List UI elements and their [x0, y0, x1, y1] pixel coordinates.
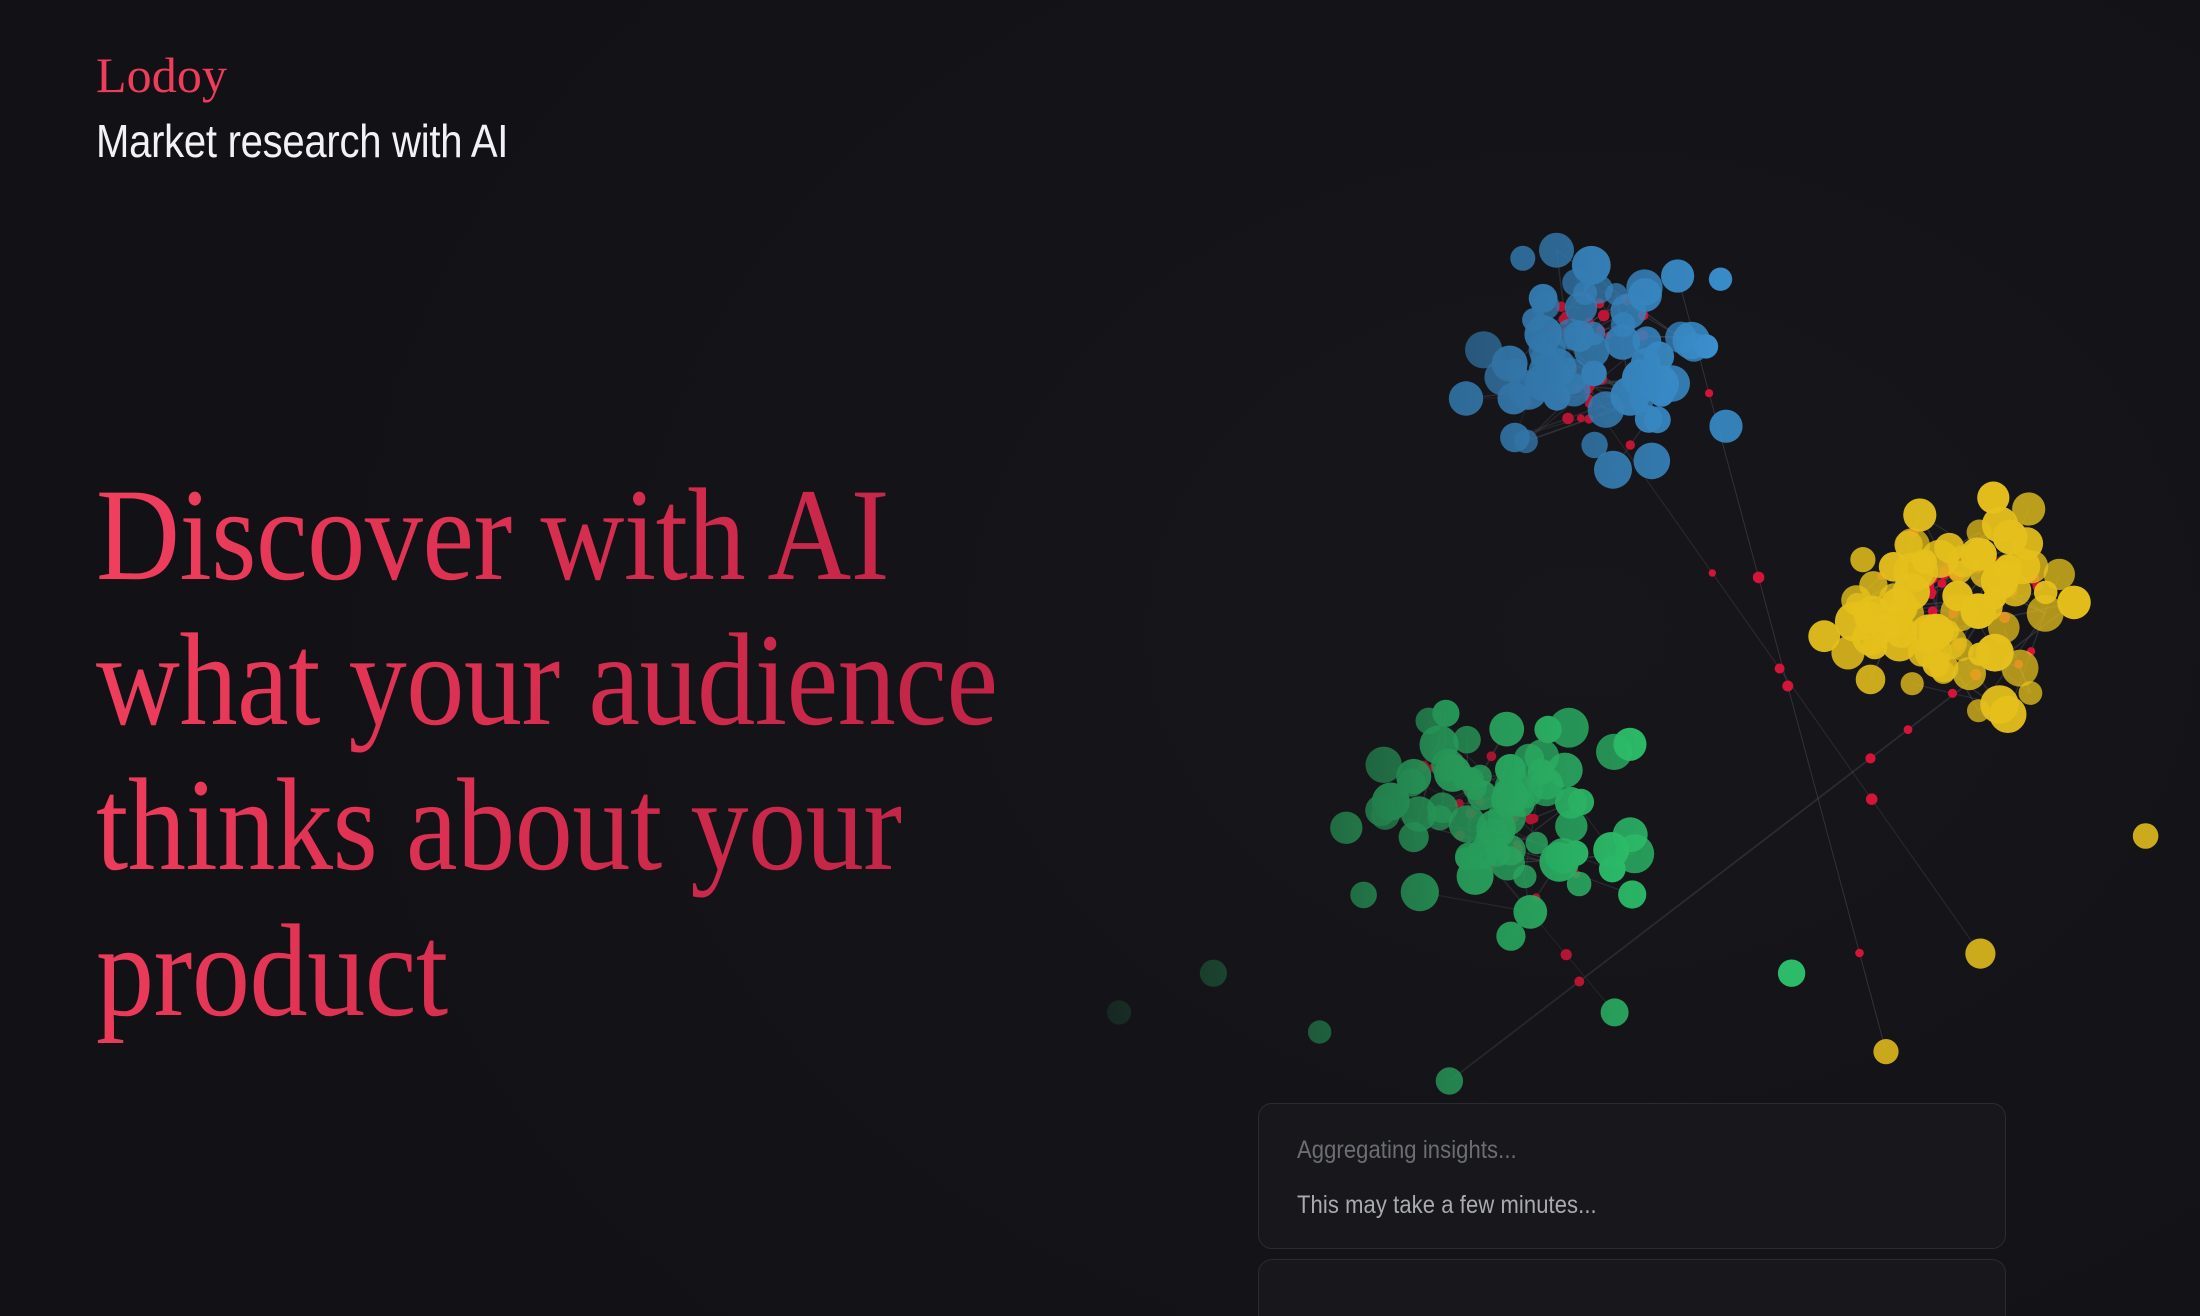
- graph-edge: [1623, 288, 1645, 343]
- graph-edge-marker: [1546, 341, 1554, 349]
- page-root: Lodoy Market research with AI Discover w…: [0, 0, 2200, 1316]
- graph-node: [1709, 268, 1732, 291]
- graph-edge: [1857, 532, 1979, 604]
- graph-edge: [2022, 566, 2045, 592]
- graph-edge-marker: [1990, 557, 1999, 566]
- graph-node: [1594, 451, 1632, 489]
- graph-node: [1572, 246, 1611, 285]
- graph-edge-marker: [1928, 606, 1938, 616]
- graph-node: [1588, 391, 1625, 428]
- status-panel-stack: Aggregating insights... This may take a …: [1258, 1103, 2006, 1316]
- graph-edge: [1556, 374, 1606, 410]
- graph-edge-marker: [2014, 660, 2023, 669]
- graph-node: [1555, 787, 1587, 819]
- graph-node: [1852, 619, 1888, 655]
- graph-edge-marker: [1934, 663, 1944, 673]
- graph-edge-marker: [1709, 569, 1716, 576]
- graph-node: [1434, 755, 1471, 792]
- graph-edge: [1870, 607, 1989, 615]
- graph-edge: [1579, 311, 1628, 336]
- graph-edge: [1493, 803, 1571, 835]
- graph-node: [1629, 388, 1653, 412]
- graph-node: [1330, 812, 1362, 844]
- graph-edge-marker: [1782, 681, 1793, 692]
- graph-edge-marker: [1865, 753, 1875, 763]
- graph-node: [1859, 571, 1887, 599]
- graph-edge-marker: [1879, 617, 1889, 627]
- graph-edge: [1469, 730, 1548, 857]
- graph-edge: [1678, 276, 1886, 1052]
- graph-edge: [1856, 546, 1912, 601]
- graph-node: [1573, 281, 1597, 305]
- graph-node: [1200, 960, 1227, 987]
- graph-node: [1555, 319, 1586, 350]
- graph-node: [1492, 777, 1528, 813]
- graph-node: [1581, 361, 1607, 387]
- graph-edge: [1599, 289, 1681, 337]
- graph-node: [1524, 315, 1562, 353]
- status-line-duration: This may take a few minutes...: [1297, 1193, 1887, 1218]
- graph-edge-marker: [1954, 639, 1965, 650]
- graph-node: [1622, 359, 1660, 397]
- graph-edge: [1936, 631, 1961, 649]
- graph-node: [1850, 547, 1875, 572]
- graph-edge: [1936, 664, 1944, 672]
- graph-edge: [1557, 250, 1694, 347]
- graph-edge-marker: [1594, 298, 1604, 308]
- graph-edge-marker: [1525, 814, 1536, 825]
- graph-edge-marker: [1553, 391, 1564, 402]
- graph-edge: [1467, 730, 1548, 825]
- graph-edge-marker: [1993, 585, 2003, 595]
- graph-node: [1492, 346, 1528, 382]
- graph-node: [1500, 423, 1530, 453]
- graph-node: [1562, 269, 1590, 297]
- graph-edge: [1529, 759, 1565, 770]
- graph-edge-marker: [1939, 566, 1949, 576]
- graph-edge-marker: [1584, 385, 1594, 395]
- graph-edge-marker: [1559, 314, 1570, 325]
- graph-node: [1427, 792, 1458, 823]
- graph-edge-marker: [1905, 603, 1916, 614]
- graph-node: [1914, 633, 1951, 670]
- graph-edge-marker: [1903, 639, 1913, 649]
- graph-node: [1984, 560, 2018, 594]
- graph-node: [1933, 626, 1967, 660]
- graph-node: [1488, 798, 1526, 836]
- graph-node: [1526, 832, 1548, 854]
- graph-edge-marker: [1487, 751, 1497, 761]
- graph-edge: [1543, 298, 1556, 368]
- graph-node: [1396, 759, 1431, 794]
- graph-edge: [1419, 757, 1542, 814]
- graph-edge: [1981, 555, 2009, 568]
- graph-edge: [1920, 566, 2022, 571]
- graph-node: [1567, 872, 1592, 897]
- graph-edge-marker: [1584, 318, 1594, 328]
- graph-edge: [1960, 572, 2045, 613]
- graph-node: [1644, 341, 1674, 371]
- graph-node: [2034, 581, 2058, 605]
- graph-node: [1653, 365, 1690, 402]
- graph-edge: [2032, 567, 2045, 614]
- graph-edge: [1929, 602, 2074, 634]
- graph-node: [1631, 348, 1661, 378]
- graph-node: [1709, 410, 1742, 443]
- graph-node: [1967, 520, 1992, 545]
- graph-node: [1534, 716, 1561, 743]
- graph-node: [1921, 540, 1959, 578]
- graph-edge: [1545, 293, 1585, 371]
- graph-node: [1490, 846, 1525, 881]
- graph-edge: [1449, 602, 2074, 1081]
- graph-edge-marker: [1945, 631, 1954, 640]
- graph-node: [1372, 783, 1410, 821]
- graph-edge: [1511, 850, 1633, 894]
- graph-edge: [1899, 607, 1930, 639]
- graph-edge: [1530, 912, 1614, 1013]
- graph-edge-marker: [1900, 572, 1908, 580]
- graph-edge-marker: [1939, 570, 1949, 580]
- graph-node: [1513, 895, 1547, 929]
- graph-node: [1530, 767, 1563, 800]
- graph-edge-marker: [1532, 893, 1540, 901]
- graph-node: [1507, 773, 1543, 809]
- graph-edge-marker: [1775, 664, 1785, 674]
- graph-edge-marker: [1529, 814, 1538, 823]
- graph-node: [1999, 575, 2031, 607]
- graph-node: [1894, 531, 1922, 559]
- headline-line-3: thinks about your: [96, 752, 1046, 897]
- graph-node: [1940, 594, 1978, 632]
- graph-edge: [1921, 573, 1985, 654]
- graph-edge: [1546, 306, 1581, 308]
- hero-headline: Discover with AI what your audience thin…: [96, 462, 1046, 1043]
- graph-node: [1778, 960, 1805, 987]
- graph-node: [1525, 739, 1560, 774]
- graph-edge-marker: [1928, 574, 1938, 584]
- graph-node: [1558, 374, 1591, 407]
- graph-edge: [1534, 320, 1658, 420]
- graph-node: [1350, 882, 1377, 909]
- graph-edge-marker: [1705, 389, 1713, 397]
- graph-edge: [1526, 373, 1594, 441]
- graph-node: [1467, 839, 1498, 870]
- graph-edge: [1443, 713, 1446, 808]
- graph-edge: [1979, 613, 2046, 710]
- graph-node: [1910, 614, 1950, 654]
- graph-node: [1610, 376, 1649, 415]
- graph-edge-marker: [1954, 571, 1965, 582]
- graph-node: [1308, 1020, 1331, 1043]
- graph-node: [1995, 554, 2022, 581]
- graph-edge-marker: [1584, 381, 1595, 392]
- graph-node: [1605, 283, 1627, 305]
- graph-edge: [1930, 573, 1985, 639]
- graph-edge: [1911, 592, 1978, 711]
- graph-edge-marker: [1924, 581, 1934, 591]
- graph-edge: [1467, 791, 1525, 824]
- graph-node: [1453, 766, 1478, 791]
- graph-node: [1457, 858, 1494, 895]
- graph-edge: [1899, 598, 1995, 607]
- graph-node: [1892, 597, 1924, 629]
- graph-edge-marker: [1753, 572, 1765, 584]
- graph-edge-layer: [1384, 250, 2074, 1081]
- graph-edge: [1579, 325, 1623, 337]
- graph-node: [1967, 699, 1990, 722]
- graph-edge: [1515, 370, 1574, 390]
- graph-node: [1455, 847, 1477, 869]
- graph-node: [1970, 558, 2000, 588]
- graph-node: [1934, 533, 1964, 563]
- graph-node: [1879, 583, 1909, 613]
- graph-edge: [1920, 515, 2046, 592]
- graph-node: [1903, 498, 1936, 531]
- graph-edge: [1950, 643, 2008, 715]
- graph-edge: [1385, 816, 1559, 862]
- graph-edge: [1384, 765, 1537, 843]
- graph-edge: [1469, 788, 1546, 856]
- status-panel-progress: Aggregating insights... This may take a …: [1258, 1103, 2006, 1249]
- graph-node: [1953, 657, 1986, 690]
- graph-edge: [1439, 745, 1480, 776]
- graph-edge: [1868, 544, 2027, 621]
- graph-node: [2019, 681, 2043, 705]
- graph-node: [1478, 819, 1508, 849]
- graph-edge-marker: [1944, 558, 1955, 569]
- graph-node: [1495, 769, 1533, 807]
- graph-edge: [1511, 856, 1563, 936]
- graph-node: [1528, 759, 1554, 785]
- graph-node: [1665, 322, 1697, 354]
- graph-edge: [1443, 795, 1511, 808]
- graph-node: [1871, 613, 1899, 641]
- graph-node: [1508, 370, 1548, 410]
- graph-edge-marker: [1948, 570, 1957, 579]
- graph-edge-marker: [1455, 799, 1464, 808]
- graph-node: [1510, 246, 1535, 271]
- graph-node: [1489, 712, 1524, 747]
- graph-node: [2015, 550, 2048, 583]
- graph-edge-marker: [1605, 332, 1612, 339]
- graph-node: [1548, 753, 1583, 788]
- graph-edge-marker: [1999, 612, 2010, 623]
- graph-edge: [1950, 598, 1995, 643]
- graph-node: [1965, 538, 1997, 570]
- graph-edge-marker: [1986, 599, 1995, 608]
- graph-edge-marker: [1573, 385, 1581, 393]
- graph-edge-marker: [1928, 592, 1936, 600]
- graph-node: [1854, 596, 1892, 634]
- graph-edge: [1443, 808, 1531, 912]
- graph-edge-marker: [2028, 573, 2039, 584]
- graph-edge-marker: [1622, 295, 1633, 306]
- graph-node: [1983, 586, 2006, 609]
- graph-edge: [1543, 334, 1681, 337]
- graph-node: [1942, 581, 1973, 612]
- graph-node: [1649, 381, 1675, 407]
- brand-tagline: Market research with AI: [96, 118, 508, 166]
- graph-node: [1977, 482, 2009, 514]
- graph-edge: [2000, 509, 2029, 581]
- graph-edge-marker: [1484, 859, 1496, 871]
- graph-node: [1563, 320, 1595, 352]
- graph-node: [1401, 873, 1439, 911]
- graph-node: [1993, 520, 2028, 555]
- graph-edge: [1482, 854, 1559, 862]
- graph-node: [1618, 880, 1646, 908]
- graph-edge: [1545, 358, 1649, 419]
- graph-node: [1965, 939, 1995, 969]
- graph-node: [1947, 545, 1979, 577]
- graph-edge: [1894, 555, 1981, 599]
- graph-edge-marker: [1574, 977, 1584, 987]
- graph-node: [2133, 823, 2159, 849]
- graph-node: [1449, 381, 1483, 415]
- graph-node: [1831, 636, 1864, 669]
- graph-edge: [1521, 757, 1542, 804]
- graph-edge: [1873, 573, 1985, 615]
- graph-edge: [1873, 585, 1874, 615]
- graph-edge: [1496, 829, 1612, 869]
- graph-edge: [1936, 613, 1959, 664]
- graph-edge-marker: [1950, 604, 1960, 614]
- graph-edge-marker: [1569, 794, 1577, 802]
- graph-node: [1436, 1067, 1463, 1094]
- graph-node: [1885, 616, 1917, 648]
- graph-edge-marker: [1948, 609, 1958, 619]
- graph-node: [2027, 595, 2064, 632]
- graph-edge-marker: [1418, 761, 1429, 772]
- graph-edge-marker: [1855, 949, 1864, 958]
- graph-edge-marker: [1428, 764, 1436, 772]
- graph-edge-marker: [1523, 398, 1533, 408]
- graph-edge: [1503, 293, 1586, 377]
- graph-edge: [1503, 377, 1662, 394]
- graph-node: [1634, 443, 1671, 480]
- graph-edge: [1856, 544, 2027, 601]
- graph-node: [1644, 406, 1671, 433]
- graph-edge: [1870, 616, 2008, 715]
- graph-node: [1640, 365, 1679, 404]
- graph-node: [1543, 384, 1570, 411]
- graph-node: [1532, 292, 1560, 320]
- graph-edge-marker: [1455, 831, 1465, 841]
- graph-edge-marker: [1596, 373, 1608, 385]
- graph-node: [1539, 842, 1579, 882]
- graph-node: [1551, 358, 1588, 395]
- graph-edge-marker: [1589, 334, 1600, 345]
- graph-node: [1673, 322, 1711, 360]
- graph-edge-marker: [1963, 556, 1975, 568]
- graph-edge-marker: [1577, 414, 1585, 422]
- graph-node: [1902, 552, 1939, 589]
- graph-edge-marker: [1526, 778, 1536, 788]
- graph-edge: [1856, 600, 1950, 642]
- graph-edge-marker: [1972, 563, 1983, 574]
- graph-edge-marker: [1479, 780, 1488, 789]
- graph-node: [1420, 725, 1459, 764]
- graph-node: [1862, 634, 1887, 659]
- graph-edge-marker: [1544, 324, 1555, 335]
- graph-edge: [1913, 546, 1949, 631]
- brand-logo[interactable]: Lodoy: [96, 50, 570, 100]
- graph-edge-marker: [1561, 949, 1572, 960]
- graph-edge: [1528, 265, 1591, 390]
- graph-node: [1399, 822, 1429, 852]
- graph-node: [1929, 653, 1958, 682]
- graph-node: [1611, 312, 1636, 337]
- graph-node: [1484, 359, 1520, 395]
- graph-edge-marker: [1570, 365, 1578, 373]
- graph-edge-marker: [1904, 725, 1913, 734]
- graph-edge: [1913, 555, 1981, 573]
- graph-edge: [1467, 824, 1575, 853]
- graph-edge: [1948, 631, 2030, 693]
- graph-node-layer: [1107, 233, 2158, 1095]
- graph-node: [1541, 359, 1571, 389]
- graph-edge-marker: [1500, 772, 1507, 779]
- graph-edge-marker: [1626, 440, 1635, 449]
- graph-edge: [1547, 350, 1641, 401]
- graph-node: [1365, 795, 1396, 826]
- graph-edge: [1979, 532, 2001, 577]
- graph-edge: [1534, 320, 1606, 410]
- graph-edge: [1933, 559, 1940, 652]
- status-line-aggregating: Aggregating insights...: [1297, 1138, 1887, 1163]
- graph-edge: [1439, 745, 1559, 856]
- graph-edge: [1411, 745, 1439, 783]
- graph-node: [1475, 827, 1501, 853]
- graph-node: [1599, 856, 1626, 883]
- graph-edge-marker: [1970, 669, 1981, 680]
- graph-node: [1545, 838, 1581, 874]
- graph-edge: [1943, 611, 1978, 672]
- graph-node: [1661, 259, 1694, 292]
- graph-edge-marker: [1513, 840, 1521, 848]
- graph-node: [1545, 842, 1573, 870]
- graph-node: [1932, 661, 1955, 684]
- graph-node: [1615, 834, 1654, 873]
- graph-edge-marker: [1978, 647, 1986, 655]
- graph-node: [1524, 365, 1560, 401]
- graph-node: [1514, 744, 1544, 774]
- graph-node: [1901, 672, 1924, 695]
- graph-edge: [1873, 615, 1944, 673]
- graph-node: [1919, 628, 1942, 651]
- graph-node: [1989, 696, 2026, 733]
- graph-edge: [1875, 515, 1920, 647]
- graph-node: [1919, 614, 1954, 649]
- graph-edge-marker: [1585, 400, 1592, 407]
- graph-node: [2057, 586, 2091, 620]
- graph-edge-marker: [1598, 310, 1610, 322]
- graph-edge-marker: [1513, 853, 1522, 862]
- graph-edge: [1616, 294, 1630, 396]
- graph-edge: [1475, 803, 1571, 877]
- graph-edge-marker: [1545, 761, 1554, 770]
- graph-edge: [1873, 615, 1893, 620]
- graph-edge: [1978, 567, 2032, 611]
- graph-node: [1469, 765, 1492, 788]
- graph-edge: [1534, 320, 1981, 954]
- graph-node: [1982, 507, 2018, 543]
- graph-edge-marker: [1948, 689, 1957, 698]
- graph-edge-marker: [1638, 310, 1649, 321]
- graph-edge: [1414, 713, 1446, 837]
- graph-edge: [1593, 294, 1616, 333]
